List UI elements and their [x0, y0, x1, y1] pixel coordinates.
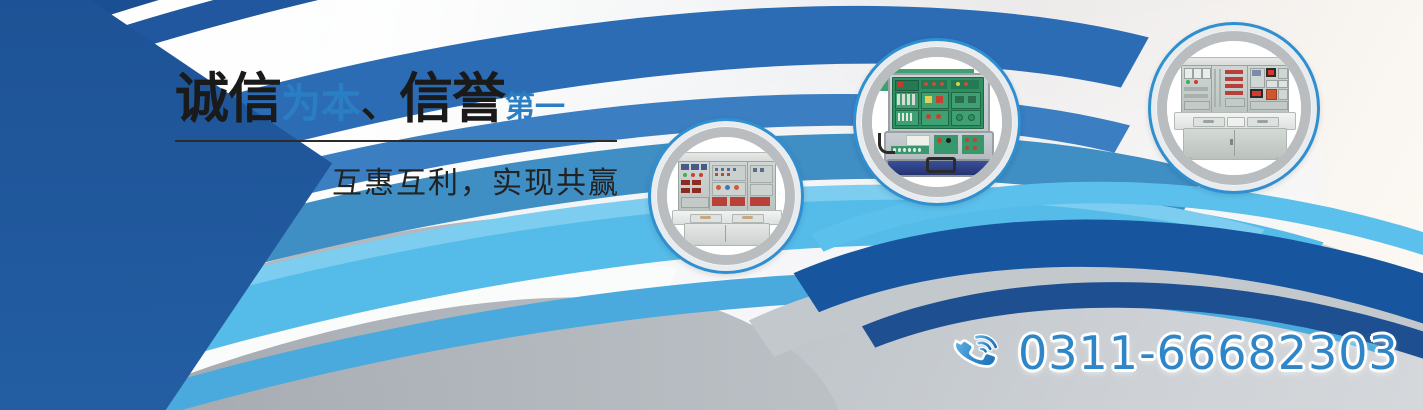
headline-part-1: 诚信	[175, 67, 281, 130]
contact-block[interactable]: 0311-66682303	[952, 326, 1399, 380]
product-image-training-kit	[872, 57, 1002, 187]
product-image-workbench-small	[667, 137, 785, 255]
subtitle: 互惠互利，实现共赢	[175, 158, 620, 202]
headline-separator: 、	[361, 82, 399, 126]
headline-part-4: 信誉	[399, 67, 505, 130]
product-image-workbench-large	[1167, 41, 1301, 175]
page-title: 诚信为本、信誉第一	[175, 72, 620, 126]
product-circle-2[interactable]	[853, 38, 1021, 206]
headline-part-5: 第一	[505, 90, 565, 125]
slogan-block: 诚信为本、信誉第一 互惠互利，实现共赢	[175, 72, 620, 202]
promotional-banner: 诚信为本、信誉第一 互惠互利，实现共赢	[0, 0, 1423, 410]
product-circle-1[interactable]	[648, 118, 804, 274]
phone-waves-icon	[952, 327, 1004, 379]
product-circle-3[interactable]	[1148, 22, 1320, 194]
headline-divider	[175, 140, 617, 142]
headline-part-2: 为本	[281, 81, 361, 127]
phone-number[interactable]: 0311-66682303	[1018, 326, 1399, 380]
